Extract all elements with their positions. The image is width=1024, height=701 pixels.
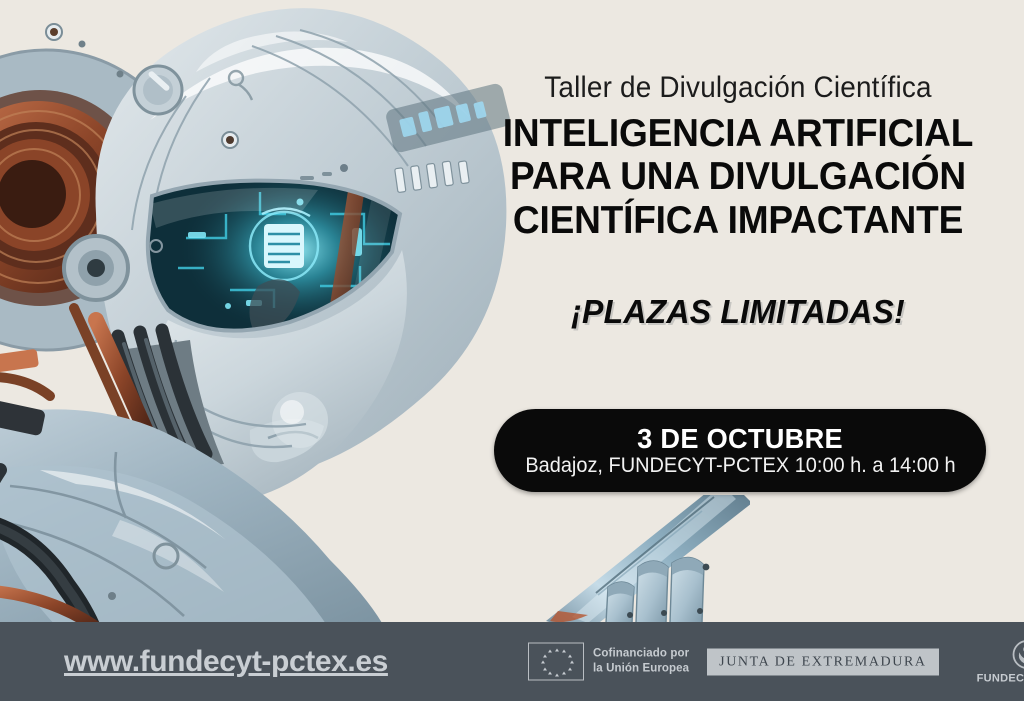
- junta-extremadura-label: JUNTA DE EXTREMADURA: [719, 654, 926, 670]
- fundecyt-pctex-logo: FUNDECYTPCTEX: [977, 639, 1024, 684]
- limited-places-callout: ¡PLAZAS LIMITADAS!: [476, 243, 1000, 328]
- eu-flag-icon: [528, 643, 584, 681]
- headline-line-3: CIENTÍFICA IMPACTANTE: [482, 199, 995, 243]
- website-url-link[interactable]: www.fundecyt-pctex.es: [64, 645, 388, 679]
- footer-bar: www.fundecyt-pctex.es: [0, 622, 1024, 701]
- event-date: 3 DE OCTUBRE: [637, 424, 843, 453]
- fundecyt-swirl-icon: [1012, 639, 1024, 669]
- robot-hand-illustration: [490, 495, 750, 622]
- eu-cofunding-logo: Cofinanciado por la Unión Europea: [528, 643, 689, 681]
- eu-label-line-2: la Unión Europea: [593, 662, 689, 677]
- event-place-and-time: Badajoz, FUNDECYT-PCTEX 10:00 h. a 14:00…: [525, 454, 955, 477]
- headline-line-1: INTELIGENCIA ARTIFICIAL: [482, 112, 995, 156]
- junta-extremadura-logo: JUNTA DE EXTREMADURA: [707, 648, 938, 675]
- footer-logo-group: Cofinanciado por la Unión Europea JUNTA …: [528, 639, 1024, 684]
- poster-text-column: Taller de Divulgación Científica INTELIG…: [468, 0, 1008, 328]
- poster-kicker: Taller de Divulgación Científica: [487, 0, 989, 104]
- eu-cofunding-label: Cofinanciado por la Unión Europea: [593, 647, 689, 676]
- fundecyt-pctex-label: FUNDECYTPCTEX: [977, 672, 1024, 684]
- headline-line-2: PARA UNA DIVULGACIÓN: [482, 155, 995, 199]
- eu-label-line-1: Cofinanciado por: [593, 647, 689, 662]
- poster-canvas: Taller de Divulgación Científica INTELIG…: [0, 0, 1024, 701]
- event-info-badge: 3 DE OCTUBRE Badajoz, FUNDECYT-PCTEX 10:…: [494, 409, 986, 492]
- page-title: INTELIGENCIA ARTIFICIAL PARA UNA DIVULGA…: [482, 104, 995, 243]
